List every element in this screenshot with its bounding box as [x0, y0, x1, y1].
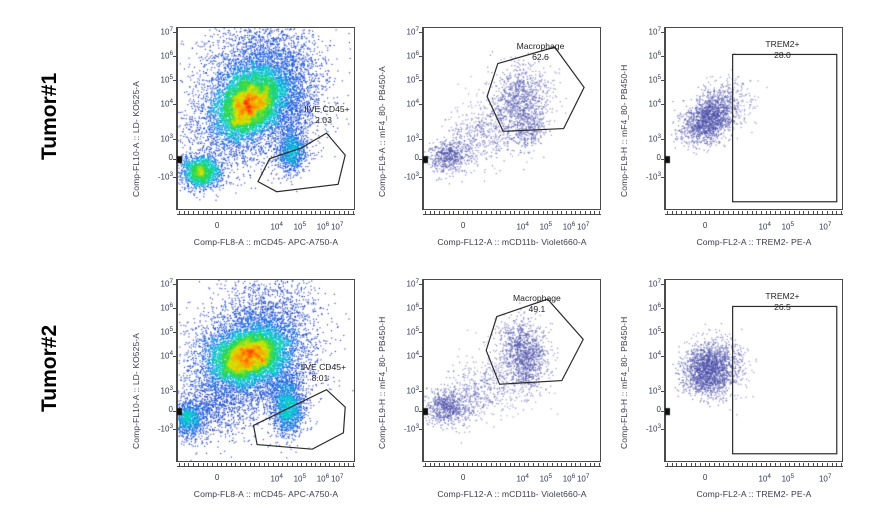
x-minor-tick-p3-28 — [799, 211, 800, 214]
x-minor-tick-p1-16 — [254, 211, 255, 214]
x-minor-tick-p4-6 — [207, 463, 208, 466]
x-minor-tick-p5-16 — [500, 463, 501, 466]
x-minor-tick-p2-25 — [543, 211, 544, 214]
x-minor-tick-p5-2 — [434, 463, 435, 466]
y-tickmark-p2-2 — [419, 80, 423, 81]
y-tick-p3-6: -103 — [635, 171, 661, 182]
x-minor-tick-p5-21 — [524, 463, 525, 466]
x-minor-tick-p6-10 — [714, 463, 715, 466]
x-minor-tick-p5-0 — [425, 463, 426, 466]
gate-shape-p3 — [0, 0, 887, 507]
x-axis-label-p4: Comp-FL8-A :: mCD45- APC-A750-A — [194, 489, 338, 499]
x-tick-p4-1: 104 — [264, 473, 290, 484]
plot-frame-p2 — [423, 27, 601, 210]
x-minor-tick-p6-25 — [785, 463, 786, 466]
gate-name-p1: lIVE CD45+ — [305, 104, 350, 114]
x-tick-p5-2: 105 — [533, 473, 559, 484]
gate-shape-p6 — [0, 0, 887, 507]
x-tick-p3-0: 0 — [692, 221, 718, 230]
x-minor-tick-p2-37 — [599, 211, 600, 214]
x-minor-tick-p6-20 — [761, 463, 762, 466]
x-minor-tick-p3-9 — [709, 211, 710, 214]
x-tick-p1-2: 105 — [287, 221, 313, 232]
x-minor-tick-p4-32 — [329, 463, 330, 466]
y-tickmark-p6-0 — [661, 284, 665, 285]
y-axis-line-p6 — [664, 279, 665, 462]
x-minor-tick-p1-15 — [250, 211, 251, 214]
x-minor-tick-p2-13 — [486, 211, 487, 214]
plot-frame-p6 — [665, 279, 843, 462]
panel-p1: 1071061051041030-1030104105106107Comp-FL… — [0, 0, 887, 507]
x-minor-tick-p4-26 — [301, 463, 302, 466]
gate-shape-p4 — [0, 0, 887, 507]
x-minor-tick-p2-23 — [533, 211, 534, 214]
x-minor-tick-p6-23 — [775, 463, 776, 466]
x-minor-tick-p4-12 — [235, 463, 236, 466]
x-minor-tick-p6-9 — [709, 463, 710, 466]
x-minor-tick-p5-25 — [543, 463, 544, 466]
y-tick-p1-5: 0 — [147, 153, 173, 162]
x-minor-tick-p2-35 — [590, 211, 591, 214]
y-tick-p2-5: 0 — [393, 153, 419, 162]
x-minor-tick-p5-28 — [557, 463, 558, 466]
y-tick-p5-3: 104 — [393, 350, 419, 361]
gate-percent-p5: 49.1 — [529, 304, 546, 314]
x-minor-tick-p1-0 — [179, 211, 180, 214]
x-minor-tick-p1-34 — [339, 211, 340, 214]
x-minor-tick-p3-1 — [672, 211, 673, 214]
x-minor-tick-p1-10 — [226, 211, 227, 214]
x-tick-p4-4: 107 — [324, 473, 350, 484]
y-tick-p2-6: -103 — [393, 171, 419, 182]
x-minor-tick-p4-30 — [320, 463, 321, 466]
x-tick-p6-0: 0 — [692, 473, 718, 482]
x-minor-tick-p3-10 — [714, 211, 715, 214]
x-minor-tick-p3-17 — [747, 211, 748, 214]
x-minor-tick-p1-20 — [273, 211, 274, 214]
x-minor-tick-p4-17 — [259, 463, 260, 466]
x-minor-tick-p6-22 — [770, 463, 771, 466]
x-minor-tick-p1-27 — [306, 211, 307, 214]
x-minor-tick-p6-26 — [789, 463, 790, 466]
x-minor-tick-p5-23 — [533, 463, 534, 466]
x-axis-line-p5 — [423, 466, 601, 467]
x-minor-tick-p1-28 — [311, 211, 312, 214]
gate-name-p2: Macrophage — [517, 41, 565, 51]
x-tick-p1-0: 0 — [204, 221, 230, 230]
x-minor-tick-p1-5 — [203, 211, 204, 214]
x-minor-tick-p6-19 — [756, 463, 757, 466]
x-minor-tick-p3-37 — [841, 211, 842, 214]
x-minor-tick-p2-28 — [557, 211, 558, 214]
gate-percent-p3: 28.0 — [774, 50, 791, 60]
x-minor-tick-p5-35 — [590, 463, 591, 466]
x-minor-tick-p3-29 — [803, 211, 804, 214]
x-minor-tick-p5-24 — [538, 463, 539, 466]
x-minor-tick-p3-18 — [752, 211, 753, 214]
x-minor-tick-p4-25 — [297, 463, 298, 466]
x-minor-tick-p1-9 — [221, 211, 222, 214]
y-tickmark-p2-0 — [419, 32, 423, 33]
x-tick-p2-3: 106 — [556, 221, 582, 232]
x-minor-tick-p3-16 — [742, 211, 743, 214]
x-minor-tick-p4-15 — [250, 463, 251, 466]
x-tick-p6-1: 104 — [752, 473, 778, 484]
x-axis-line-p2 — [423, 214, 601, 215]
x-minor-tick-p5-15 — [496, 463, 497, 466]
y-tick-p2-2: 105 — [393, 74, 419, 85]
x-minor-tick-p4-9 — [221, 463, 222, 466]
x-minor-tick-p1-37 — [353, 211, 354, 214]
x-minor-tick-p5-20 — [519, 463, 520, 466]
x-minor-tick-p1-7 — [212, 211, 213, 214]
panel-p5: 1071061051041030-1030104105106107Comp-FL… — [0, 0, 887, 507]
x-minor-tick-p5-34 — [585, 463, 586, 466]
x-tick-p5-1: 104 — [510, 473, 536, 484]
y-tickmark-p5-1 — [419, 308, 423, 309]
y-tickmark-p6-2 — [661, 332, 665, 333]
y-tickmark-p6-4 — [661, 391, 665, 392]
y-tickmark-p4-4 — [173, 391, 177, 392]
x-tick-p1-3: 106 — [310, 221, 336, 232]
y-tick-p2-3: 104 — [393, 98, 419, 109]
x-tick-p3-2: 105 — [775, 221, 801, 232]
x-minor-tick-p4-35 — [344, 463, 345, 466]
y-tickmark-p5-5 — [419, 411, 423, 412]
x-minor-tick-p1-22 — [282, 211, 283, 214]
x-minor-tick-p5-6 — [453, 463, 454, 466]
x-tick-p5-4: 107 — [570, 473, 596, 484]
flow-cytometry-figure: Tumor#1 Tumor#2 1071061051041030-1030104… — [0, 0, 887, 507]
x-minor-tick-p2-31 — [571, 211, 572, 214]
x-minor-tick-p3-2 — [676, 211, 677, 214]
scatter-canvas-p3 — [665, 27, 843, 210]
x-minor-tick-p6-16 — [742, 463, 743, 466]
y-tick-p6-1: 106 — [635, 302, 661, 313]
gate-percent-p4: 8.01 — [312, 373, 329, 383]
y-tickmark-p3-1 — [661, 56, 665, 57]
x-minor-tick-p5-7 — [458, 463, 459, 466]
x-axis-label-p3: Comp-FL2-A :: TREM2- PE-A — [696, 237, 811, 247]
x-axis-line-p3 — [665, 214, 843, 215]
x-minor-tick-p3-12 — [723, 211, 724, 214]
x-minor-tick-p3-4 — [686, 211, 687, 214]
y-tick-p4-6: -103 — [147, 423, 173, 434]
x-minor-tick-p1-6 — [207, 211, 208, 214]
x-minor-tick-p1-17 — [259, 211, 260, 214]
y-tickmark-p6-1 — [661, 308, 665, 309]
x-minor-tick-p5-11 — [477, 463, 478, 466]
y-tick-p6-4: 103 — [635, 385, 661, 396]
x-minor-tick-p6-24 — [780, 463, 781, 466]
x-minor-tick-p2-36 — [594, 211, 595, 214]
x-minor-tick-p1-18 — [264, 211, 265, 214]
x-minor-tick-p1-36 — [348, 211, 349, 214]
y-tick-p2-4: 103 — [393, 133, 419, 144]
x-minor-tick-p3-11 — [719, 211, 720, 214]
panel-p3: 1071061051041030-1030104105107Comp-FL9-H… — [0, 0, 887, 507]
y-tick-p6-0: 107 — [635, 278, 661, 289]
x-minor-tick-p5-30 — [566, 463, 567, 466]
x-minor-tick-p3-22 — [770, 211, 771, 214]
x-minor-tick-p2-11 — [477, 211, 478, 214]
y-tickmark-p4-0 — [173, 284, 177, 285]
y-tickmark-p5-6 — [419, 429, 423, 430]
x-minor-tick-p4-33 — [334, 463, 335, 466]
x-minor-tick-p6-11 — [719, 463, 720, 466]
x-tick-p4-2: 105 — [287, 473, 313, 484]
x-minor-tick-p4-27 — [306, 463, 307, 466]
y-tick-p1-2: 105 — [147, 74, 173, 85]
x-minor-tick-p5-29 — [561, 463, 562, 466]
y-tick-p5-5: 0 — [393, 405, 419, 414]
x-minor-tick-p5-32 — [575, 463, 576, 466]
y-tickmark-p4-5 — [173, 411, 177, 412]
x-axis-label-p1: Comp-FL8-A :: mCD45- APC-A750-A — [194, 237, 338, 247]
x-minor-tick-p4-5 — [203, 463, 204, 466]
x-minor-tick-p6-29 — [803, 463, 804, 466]
x-minor-tick-p4-3 — [193, 463, 194, 466]
x-minor-tick-p6-31 — [813, 463, 814, 466]
x-minor-tick-p6-18 — [752, 463, 753, 466]
x-minor-tick-p6-7 — [700, 463, 701, 466]
x-minor-tick-p3-15 — [738, 211, 739, 214]
x-minor-tick-p4-7 — [212, 463, 213, 466]
y-tickmark-p5-2 — [419, 332, 423, 333]
y-axis-line-p5 — [422, 279, 423, 462]
y-tick-p2-1: 106 — [393, 50, 419, 61]
y-tickmark-p4-2 — [173, 332, 177, 333]
y-tick-p4-1: 106 — [147, 302, 173, 313]
y-tick-p3-5: 0 — [635, 153, 661, 162]
y-tick-p1-0: 107 — [147, 26, 173, 37]
x-minor-tick-p2-20 — [519, 211, 520, 214]
x-minor-tick-p6-6 — [695, 463, 696, 466]
scatter-canvas-p2 — [423, 27, 601, 210]
y-tickmark-p2-3 — [419, 104, 423, 105]
x-minor-tick-p3-33 — [822, 211, 823, 214]
x-minor-tick-p1-14 — [245, 211, 246, 214]
scatter-canvas-p5 — [423, 279, 601, 462]
x-minor-tick-p1-32 — [329, 211, 330, 214]
x-minor-tick-p4-28 — [311, 463, 312, 466]
x-minor-tick-p6-33 — [822, 463, 823, 466]
x-minor-tick-p3-19 — [756, 211, 757, 214]
x-minor-tick-p1-29 — [315, 211, 316, 214]
y-tick-p4-4: 103 — [147, 385, 173, 396]
x-minor-tick-p2-14 — [491, 211, 492, 214]
x-minor-tick-p4-31 — [325, 463, 326, 466]
x-minor-tick-p2-4 — [444, 211, 445, 214]
x-minor-tick-p6-13 — [728, 463, 729, 466]
y-tick-p6-6: -103 — [635, 423, 661, 434]
x-minor-tick-p4-29 — [315, 463, 316, 466]
x-minor-tick-p1-3 — [193, 211, 194, 214]
y-tickmark-p1-0 — [173, 32, 177, 33]
y-tickmark-p5-4 — [419, 391, 423, 392]
x-minor-tick-p4-13 — [240, 463, 241, 466]
y-tickmark-p3-2 — [661, 80, 665, 81]
x-axis-line-p6 — [665, 466, 843, 467]
y-tickmark-p3-4 — [661, 139, 665, 140]
x-minor-tick-p5-37 — [599, 463, 600, 466]
x-minor-tick-p6-17 — [747, 463, 748, 466]
x-minor-tick-p3-35 — [832, 211, 833, 214]
x-minor-tick-p2-12 — [481, 211, 482, 214]
x-minor-tick-p3-24 — [780, 211, 781, 214]
gate-percent-p2: 62.6 — [532, 52, 549, 62]
row-label-tumor1: Tumor#1 — [38, 73, 62, 160]
x-minor-tick-p2-7 — [458, 211, 459, 214]
x-axis-label-p6: Comp-FL2-A :: TREM2- PE-A — [696, 489, 811, 499]
x-minor-tick-p4-16 — [254, 463, 255, 466]
x-minor-tick-p3-21 — [766, 211, 767, 214]
x-minor-tick-p6-35 — [832, 463, 833, 466]
y-tickmark-p1-4 — [173, 139, 177, 140]
x-minor-tick-p2-2 — [434, 211, 435, 214]
x-minor-tick-p1-31 — [325, 211, 326, 214]
y-tick-p5-1: 106 — [393, 302, 419, 313]
x-minor-tick-p1-12 — [235, 211, 236, 214]
x-minor-tick-p5-14 — [491, 463, 492, 466]
x-minor-tick-p3-5 — [691, 211, 692, 214]
x-tick-p2-1: 104 — [510, 221, 536, 232]
plot-frame-p1 — [177, 27, 355, 210]
x-minor-tick-p5-26 — [547, 463, 548, 466]
y-tickmark-p4-1 — [173, 308, 177, 309]
x-tick-p6-2: 105 — [775, 473, 801, 484]
x-minor-tick-p2-17 — [505, 211, 506, 214]
x-minor-tick-p4-21 — [278, 463, 279, 466]
x-minor-tick-p2-1 — [430, 211, 431, 214]
x-minor-tick-p2-18 — [510, 211, 511, 214]
x-tick-p2-4: 107 — [570, 221, 596, 232]
x-minor-tick-p1-2 — [188, 211, 189, 214]
x-minor-tick-p4-2 — [188, 463, 189, 466]
y-tick-p3-2: 105 — [635, 74, 661, 85]
x-minor-tick-p2-3 — [439, 211, 440, 214]
x-minor-tick-p4-4 — [198, 463, 199, 466]
x-minor-tick-p3-27 — [794, 211, 795, 214]
x-minor-tick-p5-27 — [552, 463, 553, 466]
scatter-canvas-p6 — [665, 279, 843, 462]
y-axis-label-p2: Comp-FL9-A :: mF4_80- PB450-A — [377, 66, 387, 197]
x-minor-tick-p5-36 — [594, 463, 595, 466]
panel-p2: 1071061051041030-1030104105106107Comp-FL… — [0, 0, 887, 507]
plot-frame-p4 — [177, 279, 355, 462]
x-minor-tick-p1-21 — [278, 211, 279, 214]
x-minor-tick-p1-4 — [198, 211, 199, 214]
x-minor-tick-p3-25 — [785, 211, 786, 214]
x-minor-tick-p6-14 — [733, 463, 734, 466]
x-minor-tick-p6-37 — [841, 463, 842, 466]
y-tick-p1-6: -103 — [147, 171, 173, 182]
x-minor-tick-p2-0 — [425, 211, 426, 214]
x-minor-tick-p3-23 — [775, 211, 776, 214]
x-minor-tick-p4-22 — [282, 463, 283, 466]
x-minor-tick-p4-20 — [273, 463, 274, 466]
x-minor-tick-p2-22 — [528, 211, 529, 214]
x-minor-tick-p3-30 — [808, 211, 809, 214]
y-tickmark-p2-1 — [419, 56, 423, 57]
y-tick-p1-1: 106 — [147, 50, 173, 61]
y-tick-p3-3: 104 — [635, 98, 661, 109]
x-minor-tick-p4-37 — [353, 463, 354, 466]
x-minor-tick-p6-5 — [691, 463, 692, 466]
x-minor-tick-p6-30 — [808, 463, 809, 466]
x-minor-tick-p1-26 — [301, 211, 302, 214]
panel-p4: 1071061051041030-1030104105106107Comp-FL… — [0, 0, 887, 507]
x-minor-tick-p2-6 — [453, 211, 454, 214]
x-minor-tick-p5-4 — [444, 463, 445, 466]
x-minor-tick-p5-31 — [571, 463, 572, 466]
y-tick-p5-6: -103 — [393, 423, 419, 434]
x-minor-tick-p6-2 — [676, 463, 677, 466]
x-minor-tick-p6-21 — [766, 463, 767, 466]
y-tick-p1-4: 103 — [147, 133, 173, 144]
x-minor-tick-p1-23 — [287, 211, 288, 214]
y-tick-p3-4: 103 — [635, 133, 661, 144]
x-minor-tick-p2-5 — [449, 211, 450, 214]
y-tick-p5-0: 107 — [393, 278, 419, 289]
y-tick-p5-2: 105 — [393, 326, 419, 337]
x-minor-tick-p1-13 — [240, 211, 241, 214]
x-minor-tick-p4-1 — [184, 463, 185, 466]
x-minor-tick-p4-0 — [179, 463, 180, 466]
x-minor-tick-p1-19 — [268, 211, 269, 214]
x-minor-tick-p3-6 — [695, 211, 696, 214]
x-minor-tick-p2-32 — [575, 211, 576, 214]
x-axis-label-p2: Comp-FL12-A :: mCD11b- Violet660-A — [437, 237, 586, 247]
x-minor-tick-p4-19 — [268, 463, 269, 466]
x-minor-tick-p2-19 — [514, 211, 515, 214]
x-minor-tick-p3-0 — [667, 211, 668, 214]
y-tick-p6-3: 104 — [635, 350, 661, 361]
y-tickmark-p2-6 — [419, 177, 423, 178]
x-minor-tick-p5-10 — [472, 463, 473, 466]
x-minor-tick-p5-12 — [481, 463, 482, 466]
x-minor-tick-p2-10 — [472, 211, 473, 214]
x-minor-tick-p1-30 — [320, 211, 321, 214]
y-axis-label-p6: Comp-FL9-H :: mF4_80- PB450-H — [619, 317, 629, 449]
x-minor-tick-p5-33 — [580, 463, 581, 466]
x-minor-tick-p3-31 — [813, 211, 814, 214]
x-minor-tick-p1-25 — [297, 211, 298, 214]
gate-shape-p2 — [0, 0, 887, 507]
y-axis-label-p3: Comp-FL9-H :: mF4_80- PB450-H — [619, 65, 629, 197]
x-minor-tick-p3-13 — [728, 211, 729, 214]
x-minor-tick-p2-26 — [547, 211, 548, 214]
y-tickmark-p6-6 — [661, 429, 665, 430]
x-minor-tick-p3-34 — [827, 211, 828, 214]
x-minor-tick-p5-9 — [467, 463, 468, 466]
x-minor-tick-p1-35 — [344, 211, 345, 214]
y-tickmark-p3-6 — [661, 177, 665, 178]
x-minor-tick-p1-24 — [292, 211, 293, 214]
x-tick-p4-0: 0 — [204, 473, 230, 482]
x-minor-tick-p4-34 — [339, 463, 340, 466]
gate-percent-p6: 26.5 — [774, 302, 791, 312]
y-tickmark-p4-6 — [173, 429, 177, 430]
x-minor-tick-p6-0 — [667, 463, 668, 466]
y-axis-label-p1: Comp-FL10-A :: LD- KO525-A — [131, 81, 141, 197]
y-tick-p6-5: 0 — [635, 405, 661, 414]
y-axis-label-p5: Comp-FL9-H :: mF4_80- PB450-H — [377, 317, 387, 449]
y-axis-line-p1 — [176, 27, 177, 210]
x-minor-tick-p6-3 — [681, 463, 682, 466]
x-minor-tick-p5-3 — [439, 463, 440, 466]
y-tick-p1-3: 104 — [147, 98, 173, 109]
